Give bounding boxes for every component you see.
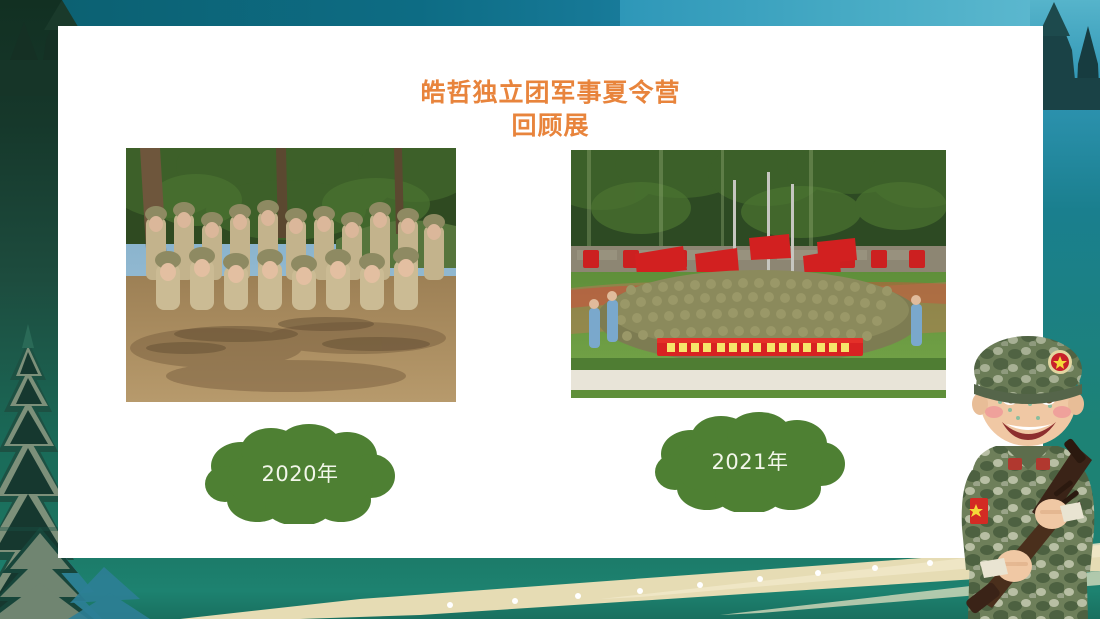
page-title: 皓哲独立团军事夏令营 回顾展 <box>58 76 1043 142</box>
content-card: 皓哲独立团军事夏令营 回顾展 <box>58 26 1043 558</box>
photo-2020[interactable] <box>126 148 456 402</box>
soldier-mascot-icon <box>952 318 1100 619</box>
photo-2021-image <box>571 150 946 398</box>
soldier-mascot <box>952 318 1100 619</box>
year-badge-2021[interactable]: 2021年 <box>655 412 845 512</box>
year-label-2020: 2020年 <box>205 424 395 524</box>
year-badge-2020[interactable]: 2020年 <box>205 424 395 524</box>
year-label-2021: 2021年 <box>655 412 845 512</box>
slide-root: 皓哲独立团军事夏令营 回顾展 <box>0 0 1100 619</box>
photo-2021[interactable] <box>571 150 946 398</box>
photo-2020-image <box>126 148 456 402</box>
